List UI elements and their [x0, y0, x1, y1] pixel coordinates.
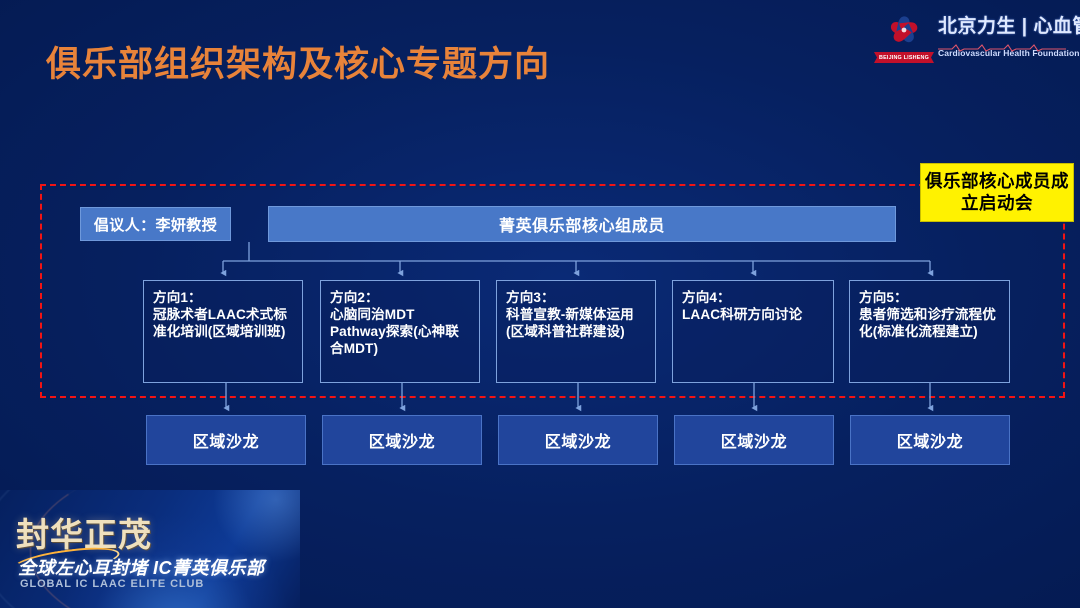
- salon-box-2: 区域沙龙: [322, 415, 482, 465]
- logo-name-cn: 北京力生 | 心血管健康基金会: [938, 17, 1080, 37]
- logo-text-block: 北京力生 | 心血管健康基金会 Cardiovascular Health Fo…: [938, 17, 1080, 57]
- ecg-line-icon: [938, 39, 1066, 47]
- heart-pinwheel-svg: [880, 11, 928, 51]
- direction-box-2: 方向2： 心脑同治MDT Pathway探索(心神联合MDT): [320, 280, 480, 383]
- brand-tagline-en: GLOBAL IC LAAC ELITE CLUB: [20, 578, 204, 590]
- direction-box-5: 方向5： 患者筛选和诊疗流程优化(标准化流程建立): [849, 280, 1010, 383]
- brand-tagline-cn: 全球左心耳封堵 IC菁英俱乐部: [18, 554, 265, 580]
- direction-box-1: 方向1： 冠脉术者LAAC术式标准化培训(区域培训班): [143, 280, 303, 383]
- salon-box-3: 区域沙龙: [498, 415, 658, 465]
- proposer-box: 倡议人：李妍教授: [80, 207, 231, 241]
- status-badge: 俱乐部核心成员成立启动会: [920, 163, 1074, 222]
- ecg-line-svg: [938, 44, 1066, 52]
- salon-box-1: 区域沙龙: [146, 415, 306, 465]
- core-group-bar: 菁英俱乐部核心组成员: [268, 206, 896, 242]
- direction-box-4: 方向4： LAAC科研方向讨论: [672, 280, 834, 383]
- heart-pinwheel-icon: BEIJING LISHENG: [876, 11, 932, 63]
- direction-box-3: 方向3： 科普宣教-新媒体运用(区域科普社群建设): [496, 280, 656, 383]
- logo-banner-text: BEIJING LISHENG: [874, 52, 934, 63]
- club-brand-artwork: 封华正茂 全球左心耳封堵 IC菁英俱乐部 GLOBAL IC LAAC ELIT…: [0, 490, 300, 608]
- salon-box-5: 区域沙龙: [850, 415, 1010, 465]
- salon-box-4: 区域沙龙: [674, 415, 834, 465]
- foundation-logo: BEIJING LISHENG 北京力生 | 心血管健康基金会 Cardiova…: [876, 8, 1072, 66]
- page-title: 俱乐部组织架构及核心专题方向: [46, 36, 550, 87]
- slide-canvas: 俱乐部组织架构及核心专题方向 BEIJING LISHENG 北京力生 | 心血…: [0, 0, 1080, 608]
